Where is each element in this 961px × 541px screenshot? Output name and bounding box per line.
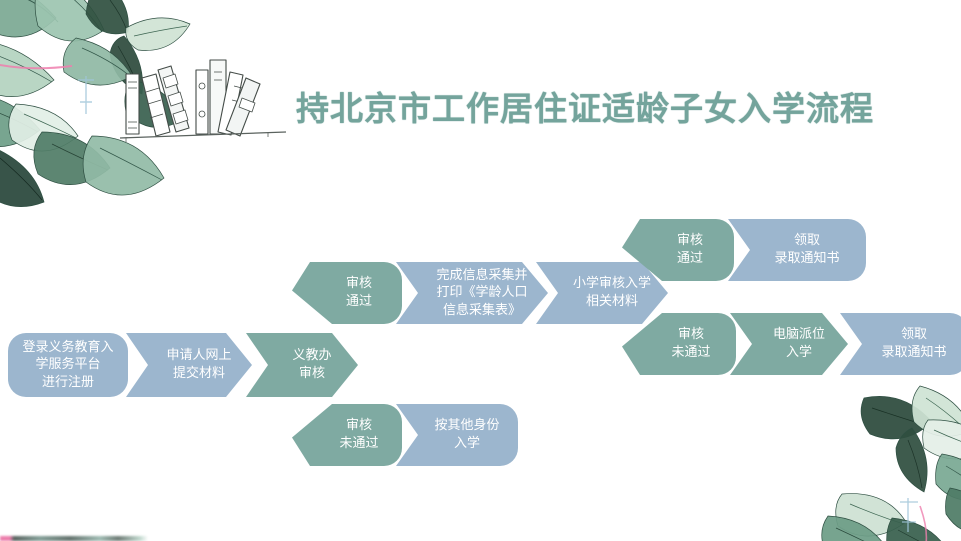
flow-node-notice-1-label: 领取 录取通知书	[774, 232, 839, 267]
flow-node-pass-1-label: 审核 通过	[346, 275, 372, 310]
botanical-leaves-top-left-icon	[0, 0, 212, 229]
flow-node-notice-2[interactable]: 领取 录取通知书	[840, 313, 961, 375]
flow-node-review[interactable]: 义教办 审核	[246, 333, 358, 397]
flow-node-submit-label: 申请人网上 提交材料	[166, 347, 231, 382]
flow-node-pass-2-label: 审核 通过	[677, 232, 703, 267]
flow-node-register[interactable]: 登录义务教育入 学服务平台 进行注册	[8, 333, 128, 397]
flow-node-fail-1[interactable]: 审核 未通过	[292, 404, 402, 466]
flow-node-notice-2-label: 领取 录取通知书	[881, 326, 946, 361]
flow-node-fail-1-label: 审核 未通过	[339, 417, 378, 452]
flow-node-review-label: 义教办 审核	[292, 347, 331, 382]
slide-canvas: 持北京市工作居住证适龄子女入学流程 登录义务教育入 学服务平台 进行注册 申请人…	[0, 0, 961, 541]
flow-node-fail-2-label: 审核 未通过	[671, 326, 710, 361]
flow-node-other-id[interactable]: 按其他身份 入学	[396, 404, 518, 466]
flow-node-pass-1[interactable]: 审核 通过	[292, 262, 402, 324]
flow-node-school-doc-label: 小学审核入学 相关材料	[573, 275, 651, 310]
books-sketch-icon	[118, 52, 298, 162]
flow-node-lottery[interactable]: 电脑派位 入学	[730, 313, 848, 375]
flow-node-collect[interactable]: 完成信息采集并 打印《学龄人口 信息采集表》	[396, 262, 548, 324]
page-title: 持北京市工作居住证适龄子女入学流程	[296, 82, 874, 130]
flow-node-school-doc[interactable]: 小学审核入学 相关材料	[536, 262, 668, 324]
flow-node-notice-1[interactable]: 领取 录取通知书	[728, 219, 866, 281]
color-strip-decoration	[0, 536, 148, 541]
flow-node-lottery-label: 电脑派位 入学	[773, 326, 825, 361]
flow-node-collect-label: 完成信息采集并 打印《学龄人口 信息采集表》	[436, 267, 527, 320]
flow-node-other-id-label: 按其他身份 入学	[434, 417, 499, 452]
botanical-leaves-bottom-right-icon	[808, 382, 961, 541]
flow-node-register-label: 登录义务教育入 学服务平台 进行注册	[22, 339, 113, 392]
flow-node-submit[interactable]: 申请人网上 提交材料	[126, 333, 252, 397]
